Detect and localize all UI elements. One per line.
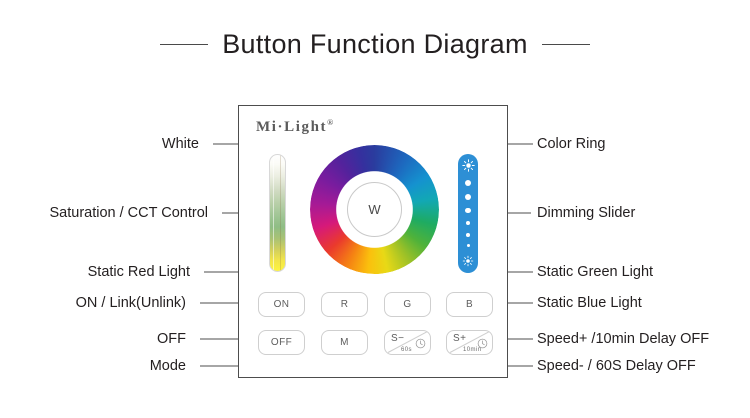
key-speed-down-label: S− — [391, 333, 404, 344]
callout-on-link: ON / Link(Unlink) — [76, 296, 186, 311]
key-on[interactable]: ON — [258, 292, 305, 317]
satbar-shade — [280, 155, 281, 271]
satbar-highlight — [273, 155, 274, 271]
registered-mark: ® — [327, 118, 333, 127]
key-r[interactable]: R — [321, 292, 368, 317]
key-speed-down-time: 60s — [401, 347, 412, 353]
callout-static-blue: Static Blue Light — [537, 296, 642, 311]
clock-icon — [477, 338, 488, 349]
key-b-label: B — [466, 299, 473, 310]
key-b[interactable]: B — [446, 292, 493, 317]
key-g[interactable]: G — [384, 292, 431, 317]
key-on-label: ON — [274, 299, 290, 310]
callout-saturation-cct: Saturation / CCT Control — [50, 206, 209, 221]
dim-dot-4 — [466, 221, 471, 226]
key-m[interactable]: M — [321, 330, 368, 355]
key-r-label: R — [341, 299, 349, 310]
key-speed-up[interactable]: S+ 10min — [446, 330, 493, 355]
key-g-label: G — [403, 299, 411, 310]
callout-static-red: Static Red Light — [88, 265, 190, 280]
saturation-cct-bar[interactable] — [269, 154, 286, 272]
callout-static-green: Static Green Light — [537, 265, 653, 280]
callout-mode: Mode — [150, 359, 186, 374]
callout-white: White — [162, 137, 199, 152]
device-panel: Mi·Light® W — [238, 105, 508, 378]
dimming-slider[interactable] — [458, 154, 478, 273]
dim-dot-2 — [465, 194, 471, 200]
key-speed-up-label: S+ — [453, 333, 466, 344]
callout-color-ring: Color Ring — [537, 137, 606, 152]
brand-logo: Mi·Light® — [256, 118, 333, 136]
brand-name: Mi·Light — [256, 119, 327, 135]
dim-dot-6 — [467, 244, 470, 247]
key-m-label: M — [340, 337, 349, 348]
callout-off: OFF — [157, 332, 186, 347]
dim-dot-1 — [465, 180, 472, 187]
page-title: Button Function Diagram — [222, 29, 528, 60]
title-bar: Button Function Diagram — [0, 22, 750, 66]
dim-dot-5 — [466, 233, 470, 237]
white-button-label: W — [368, 202, 380, 217]
dim-dot-3 — [465, 208, 470, 213]
sun-icon — [462, 255, 475, 268]
title-rule-left — [160, 44, 208, 45]
callout-speed-minus: Speed- / 60S Delay OFF — [537, 359, 696, 374]
title-rule-right — [542, 44, 590, 45]
white-button[interactable]: W — [347, 182, 402, 237]
callout-speed-plus: Speed+ /10min Delay OFF — [537, 332, 709, 347]
key-off[interactable]: OFF — [258, 330, 305, 355]
key-speed-down[interactable]: S− 60s — [384, 330, 431, 355]
key-off-label: OFF — [271, 337, 292, 348]
sun-icon — [462, 159, 475, 172]
callout-dimming-slider: Dimming Slider — [537, 206, 635, 221]
clock-icon — [415, 338, 426, 349]
